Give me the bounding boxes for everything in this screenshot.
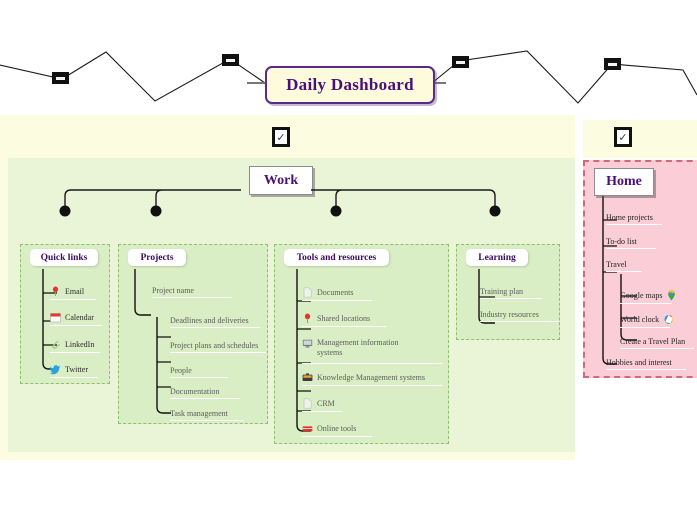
item-label: CRM (317, 399, 335, 408)
subitem-deadlines[interactable]: Deadlines and deliveries (170, 316, 249, 325)
item-hobbies-and-interest[interactable]: Hobbies and interest (606, 358, 672, 367)
item-label: Google maps (620, 291, 662, 300)
item-label: People (170, 366, 192, 375)
item-training-plan[interactable]: Training plan (480, 287, 523, 296)
work-branch-connectors (0, 158, 567, 228)
mindmap-canvas: Daily Dashboard ✓ ✓ Work Quick links Ema… (0, 0, 697, 520)
item-label: Online tools (317, 424, 356, 433)
item-label: Twitter (65, 365, 88, 374)
red-box-icon (302, 423, 313, 434)
card-header-quick-links[interactable]: Quick links (30, 249, 98, 266)
item-label: Deadlines and deliveries (170, 316, 249, 325)
card-projects (118, 244, 268, 424)
checkbox-work[interactable]: ✓ (272, 127, 290, 147)
root-node-label: Daily Dashboard (286, 75, 414, 95)
item-knowledge-management-systems[interactable]: Knowledge Management systems (302, 372, 425, 383)
item-to-do-list[interactable]: To-do list (606, 237, 637, 246)
calendar-icon (50, 312, 61, 323)
collapse-marker-right-1[interactable] (452, 56, 469, 68)
home-title-label: Home (606, 174, 642, 190)
item-label: Task management (170, 409, 228, 418)
checkbox-checked-icon: ✓ (617, 130, 629, 144)
card-header-tools-and-resources[interactable]: Tools and resources (284, 249, 389, 266)
checkbox-home[interactable]: ✓ (614, 127, 632, 147)
item-label: LinkedIn (65, 340, 94, 349)
item-calendar[interactable]: Calendar (50, 312, 94, 323)
card-header-label: Quick links (41, 253, 88, 263)
item-travel[interactable]: Travel (606, 260, 627, 269)
twitter-bird-icon (50, 364, 61, 375)
subitem-task-management[interactable]: Task management (170, 409, 228, 418)
item-label: Travel (606, 260, 627, 269)
card-header-projects[interactable]: Projects (128, 249, 186, 266)
checkbox-checked-icon: ✓ (275, 130, 287, 144)
item-label: Industry resources (480, 310, 539, 319)
work-header-band (8, 120, 575, 158)
item-label: Calendar (65, 313, 94, 322)
item-label: Create a Travel Plan (620, 337, 685, 346)
card-header-label: Projects (140, 253, 173, 263)
subitem-google-maps[interactable]: Google maps (620, 290, 677, 301)
item-online-tools[interactable]: Online tools (302, 423, 356, 434)
item-twitter[interactable]: Twitter (50, 364, 88, 375)
item-label: Training plan (480, 287, 523, 296)
collapse-marker-left-1[interactable] (52, 72, 69, 84)
item-label: Email (65, 287, 84, 296)
collapse-marker-left-2[interactable] (222, 54, 239, 66)
root-node-daily-dashboard[interactable]: Daily Dashboard (265, 66, 435, 104)
briefcase-icon (302, 372, 313, 383)
item-label: Project name (152, 286, 194, 295)
subitem-world-clock[interactable]: World clock (620, 314, 674, 325)
item-crm[interactable]: CRM (302, 398, 335, 409)
home-title-node[interactable]: Home (594, 168, 654, 196)
item-linkedin[interactable]: LinkedIn (50, 339, 94, 350)
home-header-band (583, 120, 697, 158)
subitem-documentation[interactable]: Documentation (170, 387, 219, 396)
item-label: Documents (317, 288, 353, 297)
document-icon (302, 287, 313, 298)
item-documents[interactable]: Documents (302, 287, 353, 298)
item-label: Hobbies and interest (606, 358, 672, 367)
item-label: Home projects (606, 213, 653, 222)
item-project-name[interactable]: Project name (152, 286, 194, 295)
item-shared-locations[interactable]: Shared locations (302, 313, 370, 324)
document-icon (302, 398, 313, 409)
subitem-people[interactable]: People (170, 366, 192, 375)
red-pin-icon (50, 286, 61, 297)
item-label: World clock (620, 315, 659, 324)
item-label: Shared locations (317, 314, 370, 323)
item-label: Project plans and schedules (170, 341, 258, 350)
item-management-information-systems[interactable]: Management information systems (302, 338, 422, 358)
card-header-learning[interactable]: Learning (466, 249, 528, 266)
monitor-icon (302, 338, 313, 349)
subitem-project-plans[interactable]: Project plans and schedules (170, 341, 258, 350)
paperclip-icon (50, 339, 61, 350)
google-maps-pin-icon (666, 290, 677, 301)
item-label: Documentation (170, 387, 219, 396)
item-label: Management information systems (317, 338, 422, 358)
card-header-label: Tools and resources (297, 253, 377, 263)
item-email[interactable]: Email (50, 286, 84, 297)
card-header-label: Learning (478, 253, 515, 263)
world-clock-icon (663, 314, 674, 325)
item-label: Knowledge Management systems (317, 373, 425, 382)
subitem-create-a-travel-plan[interactable]: Create a Travel Plan (620, 337, 685, 346)
item-industry-resources[interactable]: Industry resources (480, 310, 539, 319)
item-label: To-do list (606, 237, 637, 246)
red-pin-icon (302, 313, 313, 324)
item-home-projects[interactable]: Home projects (606, 213, 653, 222)
collapse-marker-right-2[interactable] (604, 58, 621, 70)
